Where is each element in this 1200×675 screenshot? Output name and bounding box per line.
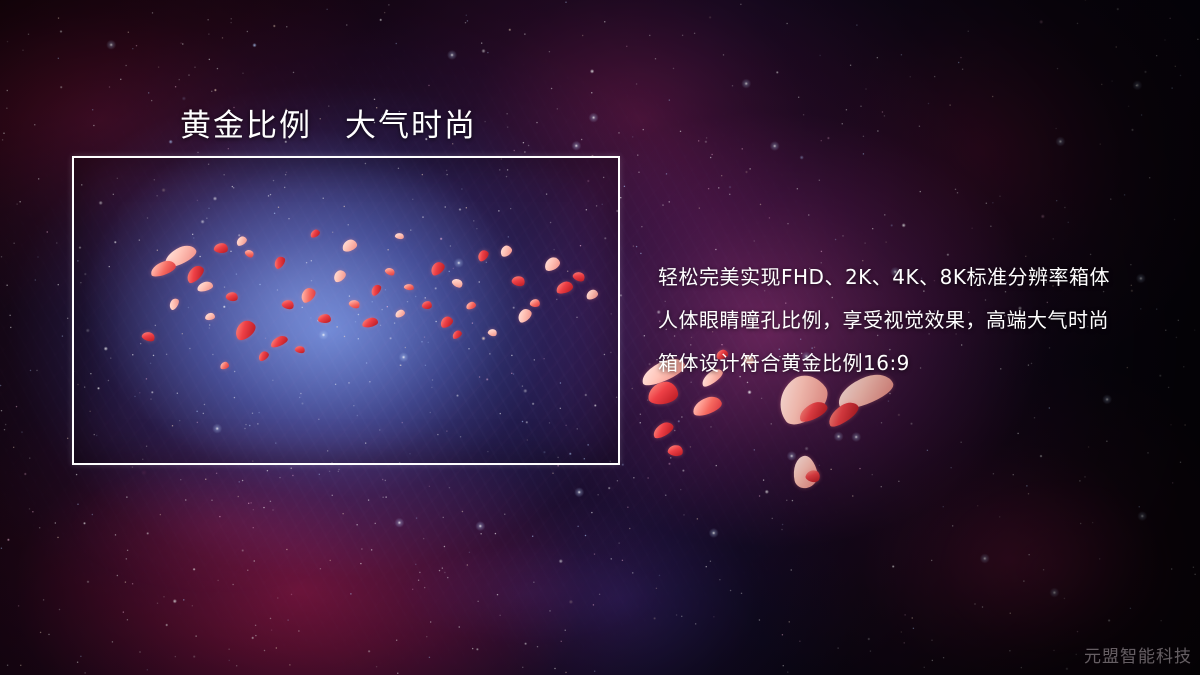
body-copy: 轻松完美实现FHD、2K、4K、8K标准分辨率箱体 人体眼睛瞳孔比例，享受视觉效… bbox=[658, 256, 1178, 385]
body-line-2: 人体眼睛瞳孔比例，享受视觉效果，高端大气时尚 bbox=[658, 299, 1178, 342]
framed-image[interactable] bbox=[72, 156, 620, 465]
page-title: 黄金比例 大气时尚 bbox=[180, 100, 477, 145]
petal bbox=[796, 399, 830, 425]
petal bbox=[804, 468, 821, 484]
body-line-3: 箱体设计符合黄金比例16:9 bbox=[658, 342, 1178, 385]
body-line-1: 轻松完美实现FHD、2K、4K、8K标准分辨率箱体 bbox=[658, 256, 1178, 299]
petal bbox=[667, 444, 684, 458]
frame-inner-shadow bbox=[74, 158, 618, 463]
petal bbox=[824, 398, 861, 430]
presentation-slide: 黄金比例 大气时尚 轻松完美实现FHD、2K、4K、8K标准分辨率箱体 人体眼睛… bbox=[0, 0, 1200, 675]
watermark: 元盟智能科技 bbox=[1084, 642, 1192, 667]
petal bbox=[690, 394, 723, 418]
petal bbox=[650, 420, 675, 441]
petal bbox=[790, 454, 820, 490]
